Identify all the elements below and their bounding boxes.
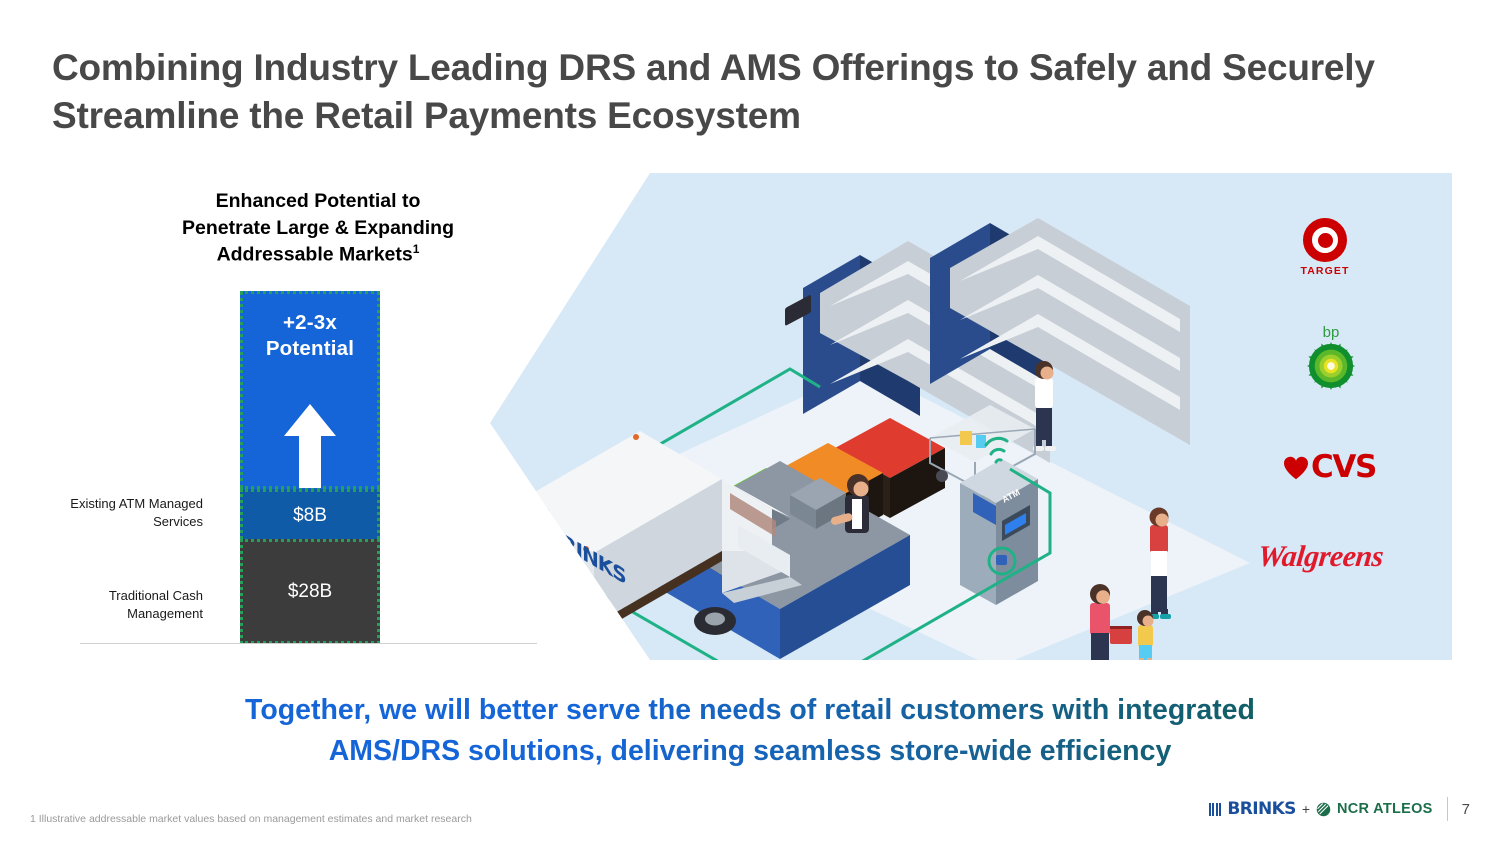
ncr-atleos-wordmark: NCR ATLEOS	[1337, 801, 1433, 817]
bar-traditional-cash-management: $28B	[240, 539, 380, 644]
summary-caption: Together, we will better serve the needs…	[100, 690, 1400, 773]
chart-title-line3: Addressable Markets	[217, 244, 413, 266]
potential-line1: +2-3x	[283, 311, 337, 334]
walgreens-wordmark: Walgreens	[1256, 540, 1385, 574]
label-existing-atm-managed-services: Existing ATM Managed Services	[33, 495, 203, 530]
logo-walgreens: Walgreens	[1258, 540, 1383, 574]
chart-title-footnote-marker: 1	[413, 242, 420, 256]
plus-symbol: +	[1302, 801, 1310, 817]
heart-icon	[1283, 456, 1309, 480]
potential-line2: Potential	[266, 337, 354, 360]
person-mother-child	[1090, 584, 1154, 660]
addressable-market-chart: Enhanced Potential to Penetrate Large & …	[78, 180, 548, 650]
logo-target: TARGET	[1293, 218, 1357, 277]
bar-cash-value: $28B	[288, 581, 332, 603]
chart-title: Enhanced Potential to Penetrate Large & …	[138, 188, 498, 269]
target-wordmark: TARGET	[1293, 265, 1357, 277]
brinks-wordmark: BRINKS	[1227, 799, 1295, 819]
cvs-wordmark: CVS	[1311, 452, 1376, 483]
chart-title-line1: Enhanced Potential to	[216, 190, 421, 212]
up-arrow-icon	[282, 402, 338, 488]
page-number: 7	[1462, 801, 1470, 818]
footer: BRINKS + NCR ATLEOS 7	[1209, 797, 1470, 821]
logo-cvs: CVS	[1283, 452, 1376, 483]
footer-divider	[1447, 797, 1448, 821]
chart-baseline	[80, 643, 537, 644]
person-shelf-right	[1148, 508, 1171, 620]
logo-bp: bp	[1296, 325, 1366, 395]
page-title: Combining Industry Leading DRS and AMS O…	[52, 44, 1452, 140]
bp-wordmark: bp	[1296, 325, 1366, 340]
bar-potential-caption: +2-3x Potential	[266, 310, 354, 362]
caption-line1: Together, we will better serve the needs…	[245, 694, 1255, 726]
retail-store-illustration: ATM	[490, 173, 1452, 660]
brinks-bars-icon	[1209, 803, 1222, 816]
bar-existing-atm-managed-services: $8B	[240, 489, 380, 539]
bar-potential: +2-3x Potential	[240, 291, 380, 489]
footnote: 1 Illustrative addressable market values…	[30, 813, 472, 825]
bp-sunburst-icon	[1307, 342, 1355, 390]
caption-line2: AMS/DRS solutions, delivering seamless s…	[329, 735, 1172, 767]
ncr-atleos-icon	[1316, 802, 1331, 817]
bar-ams-value: $8B	[293, 505, 327, 527]
chart-title-line2: Penetrate Large & Expanding	[182, 217, 454, 239]
brinks-ncr-lockup: BRINKS + NCR ATLEOS	[1209, 799, 1433, 819]
label-traditional-cash-management: Traditional Cash Management	[33, 587, 203, 622]
target-bullseye-icon	[1303, 218, 1347, 262]
slide: Combining Industry Leading DRS and AMS O…	[0, 0, 1500, 844]
